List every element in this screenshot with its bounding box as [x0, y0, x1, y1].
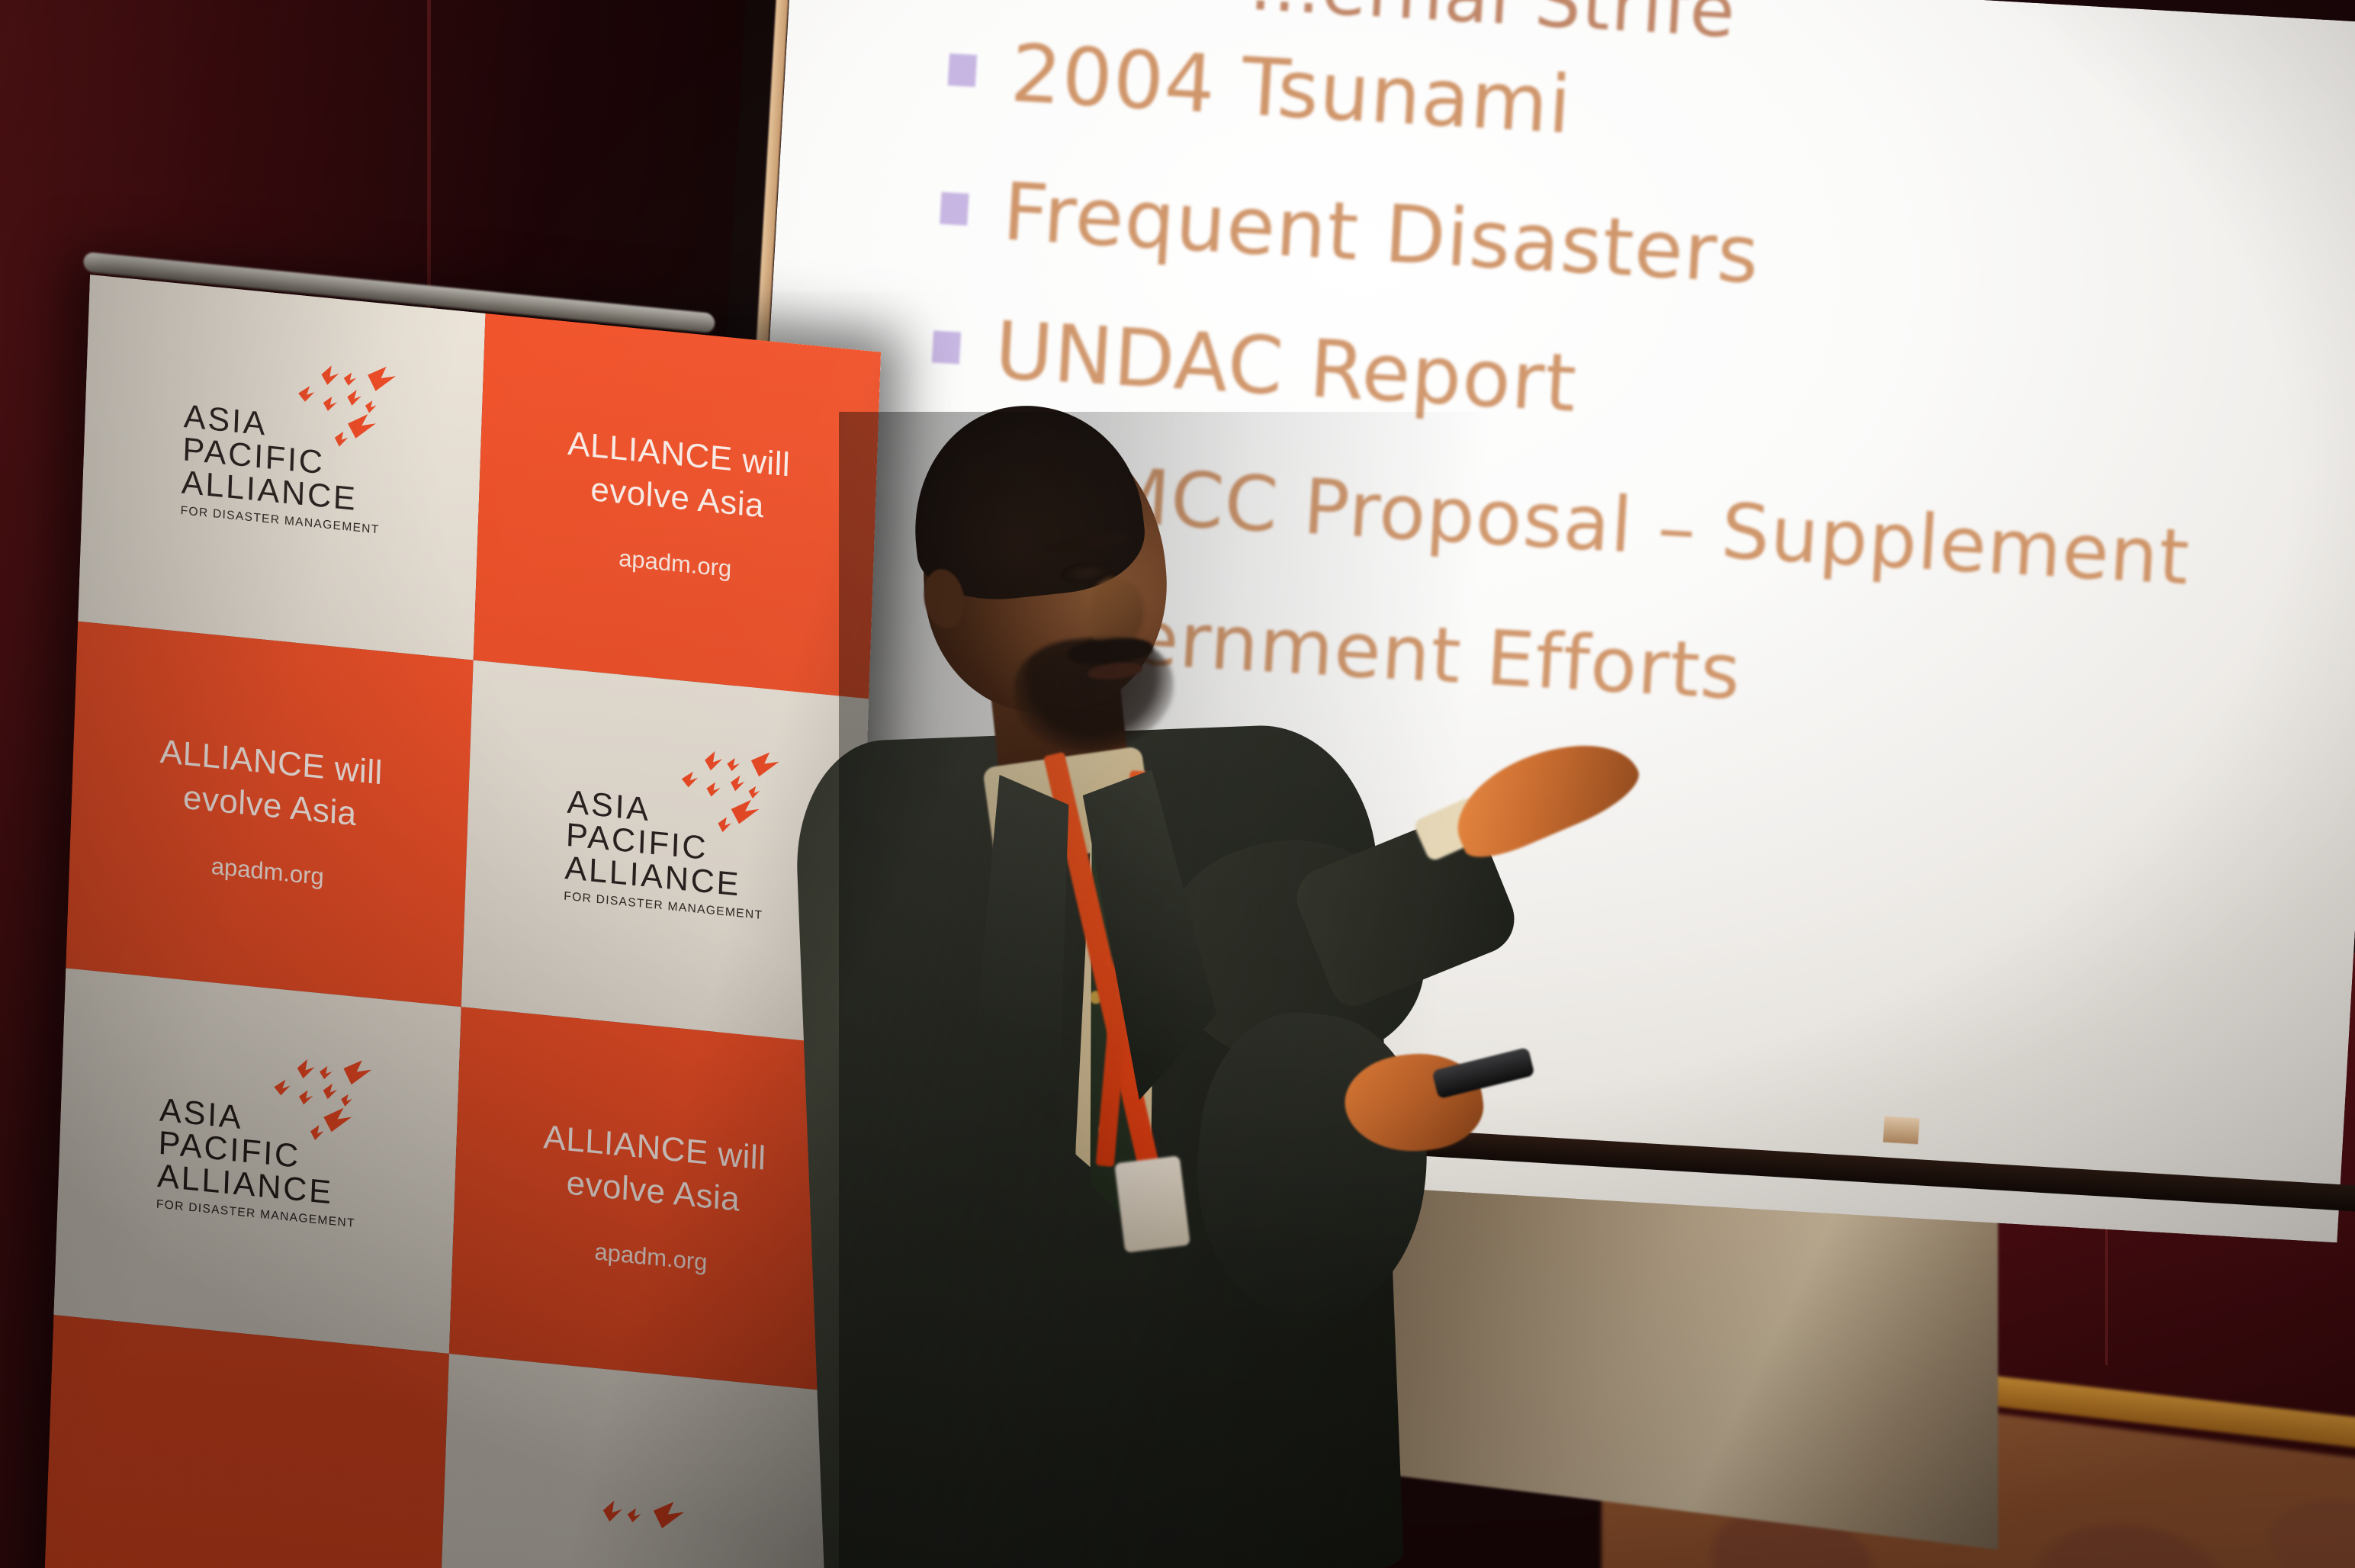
- apadm-logo: ASIA PACIFIC ALLIANCE FOR DISASTER MANAG…: [564, 785, 766, 921]
- banner-cell-tagline: ALLIANCE will evolve Asia apadm.org: [449, 1007, 856, 1393]
- banner-cell-tagline: ALLIANCE will evolve Asia apadm.org: [474, 313, 881, 699]
- flying-birds-icon: [671, 741, 807, 846]
- banner-cell-logo: ASIA PACIFIC ALLIANCE FOR DISASTER MANAG…: [78, 275, 485, 660]
- banner-url: apadm.org: [539, 1231, 763, 1283]
- speaker-open-hand: [1441, 719, 1648, 868]
- presentation-clicker: [1431, 1047, 1534, 1099]
- screen-mount-bracket: [1883, 1117, 1920, 1145]
- photo-scene: ...ernal Strife 2004 Tsunami Frequent Di…: [0, 0, 2355, 1568]
- banner-cell-tagline: [41, 1315, 448, 1568]
- rollup-banner: ASIA PACIFIC ALLIANCE FOR DISASTER MANAG…: [41, 275, 881, 1568]
- banner-cell-tagline: ALLIANCE will evolve Asia apadm.org: [66, 622, 473, 1007]
- apadm-logo: ASIA PACIFIC ALLIANCE FOR DISASTER MANAG…: [156, 1093, 358, 1229]
- banner-tagline: ALLIANCE will evolve Asia apadm.org: [156, 731, 383, 898]
- flying-birds-icon: [567, 1490, 715, 1568]
- banner-cell-logo: [437, 1354, 844, 1568]
- flying-birds-icon: [264, 1049, 400, 1154]
- flying-birds-icon: [288, 356, 423, 461]
- banner-cell-logo: ASIA PACIFIC ALLIANCE FOR DISASTER MANAG…: [53, 968, 461, 1354]
- banner-checkerboard: ASIA PACIFIC ALLIANCE FOR DISASTER MANAG…: [41, 275, 881, 1568]
- speaker-name-badge: [1114, 1155, 1190, 1253]
- banner-url: apadm.org: [156, 846, 379, 898]
- banner-tagline: ALLIANCE will evolve Asia apadm.org: [564, 423, 791, 590]
- speaker-person: [839, 412, 1647, 1568]
- banner-url: apadm.org: [564, 538, 787, 590]
- apadm-logo: ASIA PACIFIC ALLIANCE FOR DISASTER MANAG…: [180, 399, 383, 535]
- banner-tagline: ALLIANCE will evolve Asia apadm.org: [539, 1117, 766, 1284]
